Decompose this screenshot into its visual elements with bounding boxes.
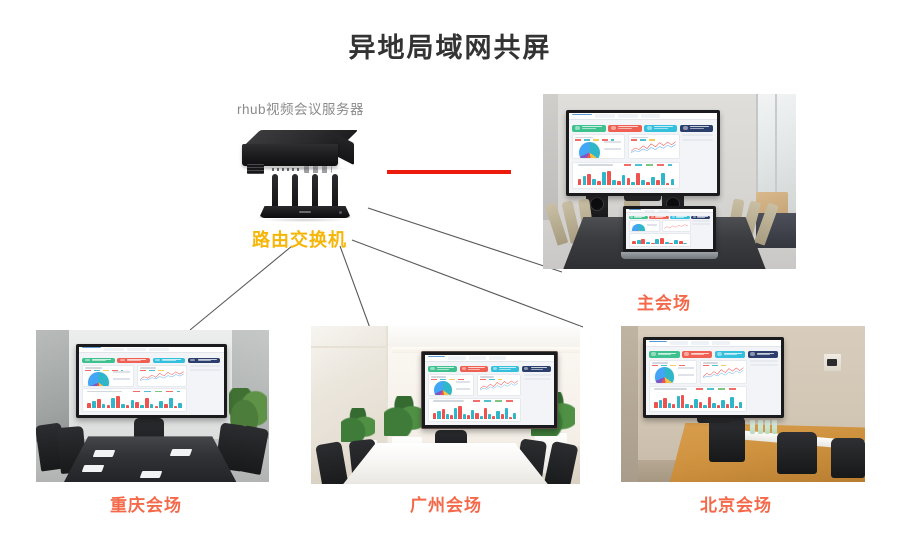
dashboard-tab[interactable] [641,114,661,118]
line-chart [703,367,743,380]
laptop [621,206,717,259]
kpi-card [460,366,489,372]
scene-chongqing [36,330,269,482]
conference-table [343,443,547,484]
kpi-card [82,358,114,363]
line-chart [631,141,676,155]
server-shadow [246,166,350,171]
dashboard-tab[interactable] [572,114,592,119]
dashboard-tab[interactable] [448,356,465,359]
laptop-base [621,252,717,259]
scene-main [543,94,796,269]
document [170,449,193,456]
bar-chart [654,393,742,409]
pie-chart-card [82,365,133,386]
bar-chart-card [82,388,187,411]
wall-control-panel [824,354,841,371]
dashboard-tab[interactable] [595,114,615,118]
kpi-card [522,366,551,372]
pie-chart [655,367,674,384]
server-label: rhub视频会议服务器 [237,98,364,118]
wall-display-main [566,110,720,196]
kpi-card [682,351,712,358]
notice-list-card [190,365,220,367]
bar-chart [87,395,182,409]
red-link-line [387,170,511,174]
kpi-card [691,216,710,219]
wall-display-chongqing [76,344,227,418]
dashboard-tab[interactable] [670,341,688,344]
kpi-card [608,125,641,132]
display-stand [624,196,661,201]
line-chart-card [662,220,691,232]
laptop-screen [623,206,715,252]
line-chart-card [137,365,188,386]
shared-screen-dashboard [569,113,717,193]
kpi-card [428,366,457,372]
dashboard-kpi-row [569,120,717,134]
server-front-face [242,144,338,166]
water-bottle [772,420,777,434]
dashboard-tab[interactable] [428,356,445,360]
dashboard-tab[interactable] [691,341,709,344]
kpi-card [644,125,677,132]
pie-chart-card [649,360,697,384]
bar-chart [433,404,517,418]
pie-chart-card [428,374,474,396]
venue-label-guangzhou: 广州会场 [410,491,482,516]
router-antenna-4 [332,174,338,207]
wall-left [621,326,638,482]
dashboard-tab[interactable] [82,347,102,351]
notice-list-card [682,134,713,136]
pie-legend [113,371,130,382]
shared-screen-dashboard-laptop [626,209,712,249]
line-chart-card [700,360,747,384]
wall-left [543,94,558,220]
plant [384,396,424,436]
line-router-to-chongqing [190,246,292,330]
office-chair [709,416,745,462]
kpi-card [670,216,689,219]
dashboard-tab[interactable] [618,114,638,118]
pie-legend [647,224,657,230]
alarm-list-card [682,139,713,141]
kpi-card [117,358,149,363]
shared-screen-dashboard [425,355,554,425]
line-router-to-guangzhou [340,246,370,328]
router-logo [299,211,311,213]
alarm-list-card [524,378,551,380]
pie-chart [434,381,452,396]
plant [341,408,375,442]
dashboard-body [569,134,717,192]
dashboard-tab[interactable] [104,348,124,351]
diagram-canvas: 异地局域网共屏 rhub视频会议服务器 路由交换机 [0,0,900,538]
wall-display-beijing [643,337,785,418]
dashboard-tab[interactable] [489,356,506,359]
bar-chart-card [629,233,691,246]
meeting-room-photo-main [543,94,796,269]
pie-legend [456,381,471,392]
line-chart [140,371,184,383]
kpi-card [188,358,220,363]
router-antenna-3 [312,174,318,207]
router-antenna-2 [292,174,298,207]
scene-guangzhou [311,326,580,484]
pie-chart [579,142,600,160]
line-chart [664,224,688,230]
router-label: 路由交换机 [252,226,347,252]
kpi-card [491,366,520,372]
router-shadow [261,218,349,222]
scene-beijing [621,326,865,482]
line-chart [480,380,518,392]
venue-label-chongqing: 重庆会场 [110,491,182,516]
venue-label-beijing: 北京会场 [700,491,772,516]
notice-list-card [750,360,778,362]
bar-chart-card [649,386,747,412]
pie-chart-card [572,134,624,159]
document [81,465,104,472]
bar-chart-card [572,162,679,189]
office-chair [777,432,817,474]
alarm-list-card [190,369,220,371]
alarm-list-card [750,364,778,366]
dashboard-tab[interactable] [629,209,640,212]
bar-chart-card [428,398,521,422]
notice-list-card [692,220,710,222]
meeting-room-photo-guangzhou [311,326,580,484]
pie-chart-card [629,220,660,232]
pie-chart [632,224,644,232]
document [140,471,163,478]
dashboard-tab[interactable] [127,348,147,351]
alarm-list-card [692,223,710,225]
dashboard-tab[interactable] [644,210,655,212]
shared-screen-dashboard [646,340,782,415]
water-bottle [750,420,755,434]
meeting-room-photo-chongqing [36,330,269,482]
pie-legend [604,141,621,154]
dashboard-tab[interactable] [658,210,669,212]
water-bottle [758,420,763,434]
kpi-card [153,358,185,363]
dashboard-tab[interactable] [712,341,730,344]
water-bottle [765,420,770,434]
dashboard-tabs [569,113,717,120]
line-chart-card [477,374,521,396]
kpi-card [748,351,778,358]
office-chair [831,438,865,478]
dashboard-tab[interactable] [649,341,667,345]
kpi-card [629,216,648,219]
meeting-room-photo-beijing [621,326,865,482]
kpi-card [649,351,679,358]
shared-screen-dashboard [79,347,224,415]
dashboard-tab[interactable] [149,348,169,351]
notice-list-card [524,374,551,376]
dashboard-tab[interactable] [469,356,486,359]
venue-label-main: 主会场 [637,289,691,314]
pie-legend [678,367,694,379]
wall-display-guangzhou [421,351,558,429]
line-router-to-main [368,208,562,272]
router-antenna-1 [272,174,278,207]
bar-chart [578,169,675,186]
line-chart-card [628,134,680,159]
wifi-router-icon [259,174,351,224]
kpi-card [649,216,668,219]
pie-chart [88,372,109,387]
display-stand [697,418,731,423]
document [93,450,116,457]
kpi-card [715,351,745,358]
kpi-card [680,125,713,132]
kpi-card [572,125,605,132]
bar-chart [632,237,687,244]
router-led [339,211,342,214]
